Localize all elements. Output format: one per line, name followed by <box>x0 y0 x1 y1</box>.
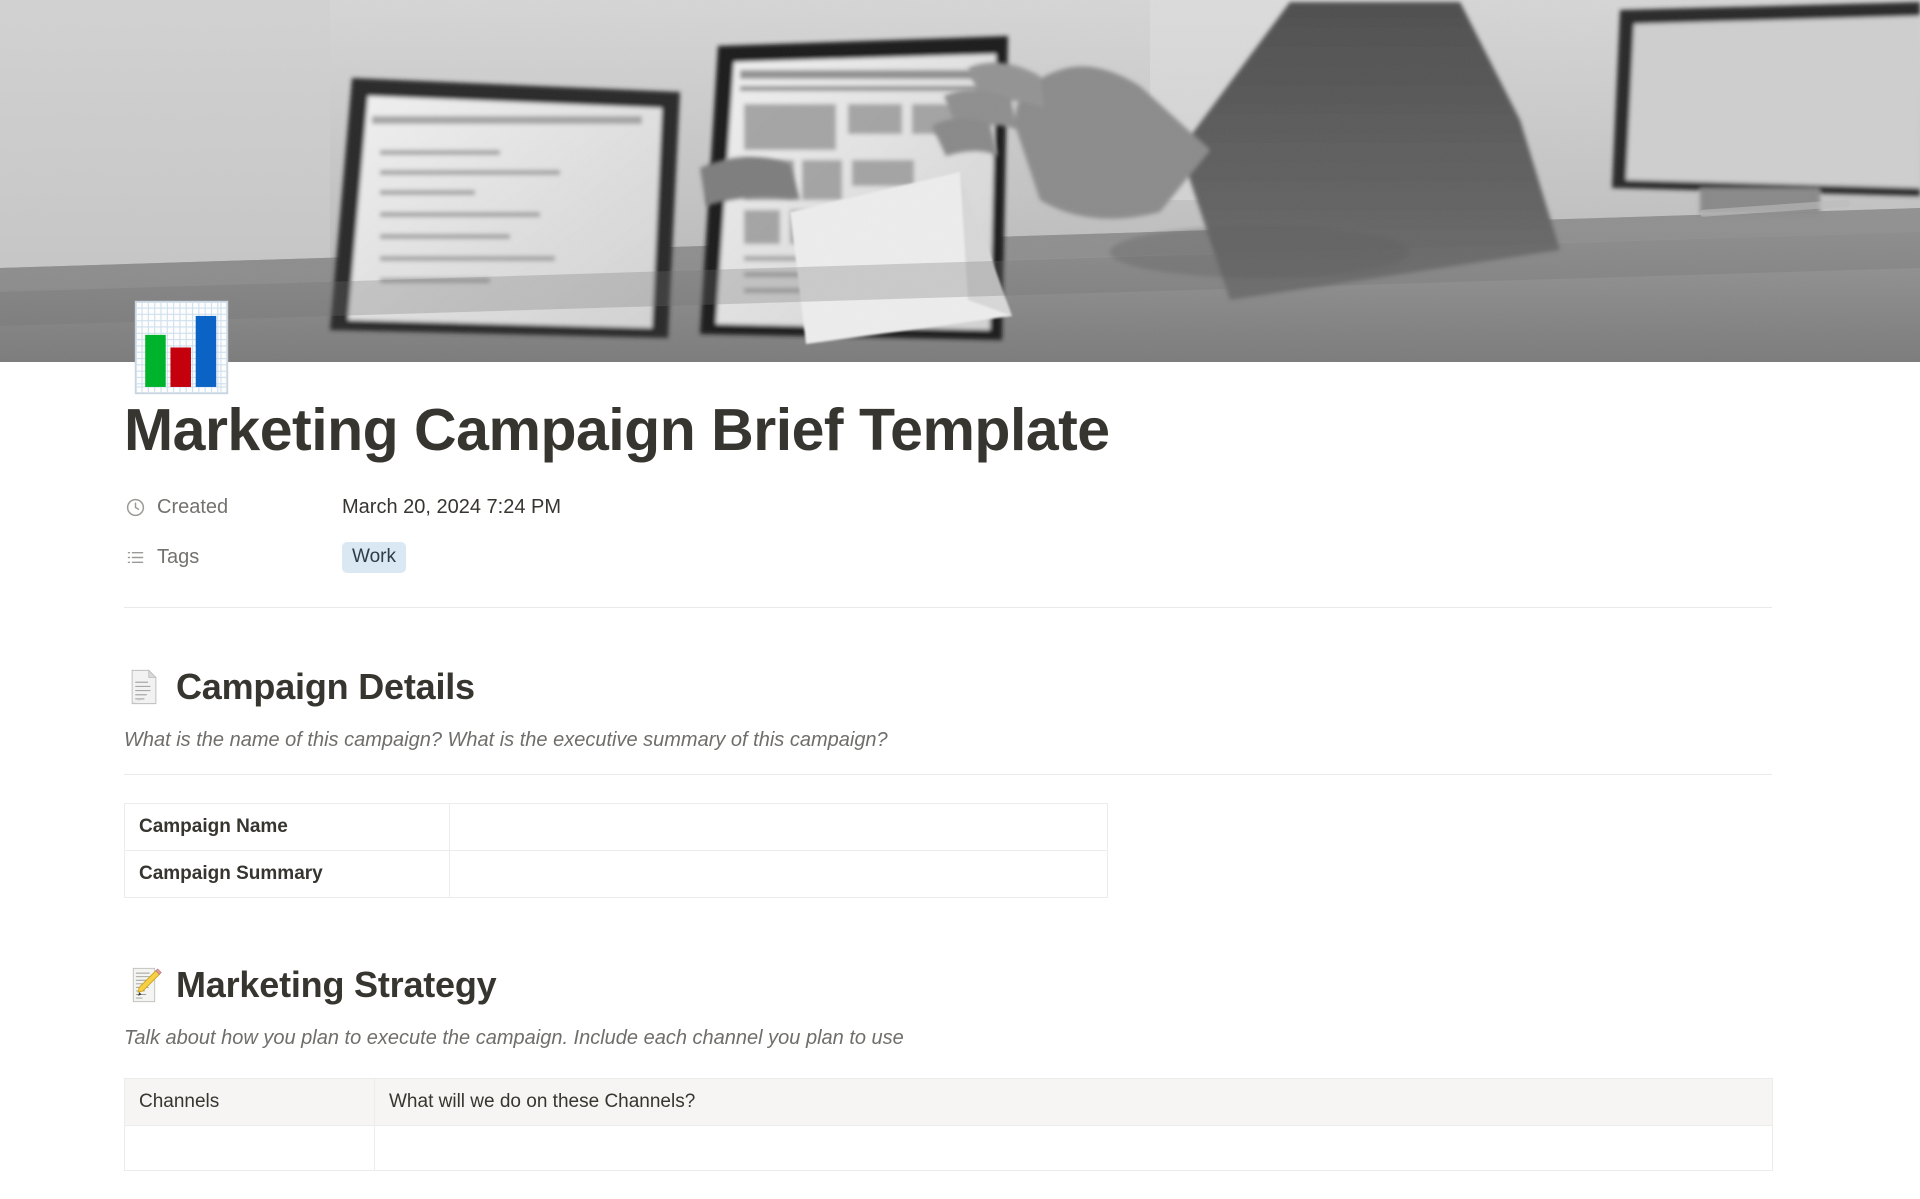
table-row[interactable]: Campaign Name <box>125 803 1108 850</box>
table-row[interactable]: Campaign Summary <box>125 850 1108 897</box>
section-campaign-details: Campaign Details What is the name of thi… <box>124 608 1772 898</box>
table-marketing-channels[interactable]: Channels What will we do on these Channe… <box>124 1078 1773 1171</box>
table-campaign-details[interactable]: Campaign Name Campaign Summary <box>124 803 1108 898</box>
list-icon <box>124 547 146 569</box>
cover-image[interactable] <box>0 0 1920 362</box>
page-content: Marketing Campaign Brief Template Create… <box>0 362 1920 1171</box>
page-title[interactable]: Marketing Campaign Brief Template <box>124 362 1772 463</box>
caption-marketing-strategy: Talk about how you plan to execute the c… <box>124 1027 1772 1050</box>
heading-text: Marketing Strategy <box>176 964 497 1006</box>
property-value-created[interactable]: March 20, 2024 7:24 PM <box>342 496 561 519</box>
cell-campaign-name-value[interactable] <box>450 803 1108 850</box>
heading-text: Campaign Details <box>176 666 475 708</box>
page-facing-up-emoji <box>124 667 164 707</box>
property-row-created[interactable]: Created March 20, 2024 7:24 PM <box>124 489 1772 527</box>
cell-campaign-name-label[interactable]: Campaign Name <box>125 803 450 850</box>
heading-campaign-details[interactable]: Campaign Details <box>124 666 1772 708</box>
property-row-tags[interactable]: Tags Work <box>124 539 1772 577</box>
status-badge-work[interactable]: Work <box>342 542 406 573</box>
property-name-tags: Tags <box>157 546 199 569</box>
page-properties: Created March 20, 2024 7:24 PM Tags <box>124 489 1772 577</box>
section-marketing-strategy: Marketing Strategy Talk about how you pl… <box>124 898 1772 1171</box>
clock-icon <box>124 497 146 519</box>
column-header-channels[interactable]: Channels <box>125 1078 375 1125</box>
section-divider-campaign-details <box>124 774 1772 775</box>
memo-emoji <box>124 965 164 1005</box>
notion-page: Marketing Campaign Brief Template Create… <box>0 0 1920 1199</box>
caption-campaign-details: What is the name of this campaign? What … <box>124 729 1772 752</box>
table-row[interactable] <box>125 1125 1773 1170</box>
property-label-tags[interactable]: Tags <box>124 546 342 569</box>
property-label-created[interactable]: Created <box>124 496 342 519</box>
bar-chart-emoji <box>131 297 232 398</box>
table-header-row: Channels What will we do on these Channe… <box>125 1078 1773 1125</box>
cell-campaign-summary-label[interactable]: Campaign Summary <box>125 850 450 897</box>
column-header-plan[interactable]: What will we do on these Channels? <box>375 1078 1773 1125</box>
property-value-tags[interactable]: Work <box>342 542 406 573</box>
property-name-created: Created <box>157 496 228 519</box>
page-icon-bar-chart[interactable] <box>131 297 232 398</box>
heading-marketing-strategy[interactable]: Marketing Strategy <box>124 964 1772 1006</box>
cell-campaign-summary-value[interactable] <box>450 850 1108 897</box>
cell-plan[interactable] <box>375 1125 1773 1170</box>
cover-photo-desk-laptops <box>0 0 1920 362</box>
cell-channel[interactable] <box>125 1125 375 1170</box>
